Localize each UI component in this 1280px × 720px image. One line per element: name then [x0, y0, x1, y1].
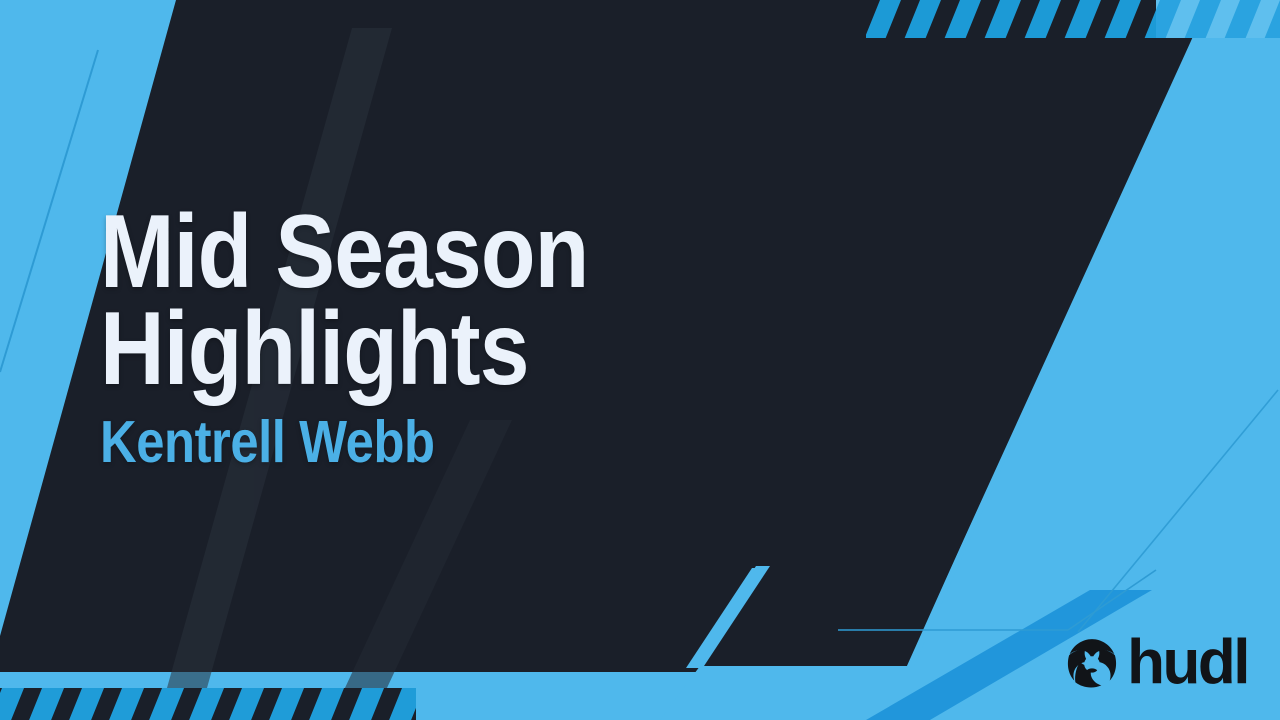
art-stripes-bottom-left: [0, 686, 416, 720]
hudl-logo: hudl: [1066, 632, 1248, 694]
hudl-logo-mark: [1066, 637, 1118, 689]
hudl-wordmark: hudl: [1127, 631, 1248, 694]
athlete-name-subtitle: Kentrell Webb: [100, 413, 588, 472]
title-line-2: Highlights: [100, 301, 588, 398]
highlight-title-card: Mid Season Highlights Kentrell Webb hudl: [0, 0, 1280, 720]
art-bottom-band-2: [382, 672, 712, 720]
title-text-block: Mid Season Highlights Kentrell Webb: [100, 204, 668, 472]
art-stripes-top-right: [860, 0, 1280, 40]
title-line-1: Mid Season: [100, 204, 588, 301]
